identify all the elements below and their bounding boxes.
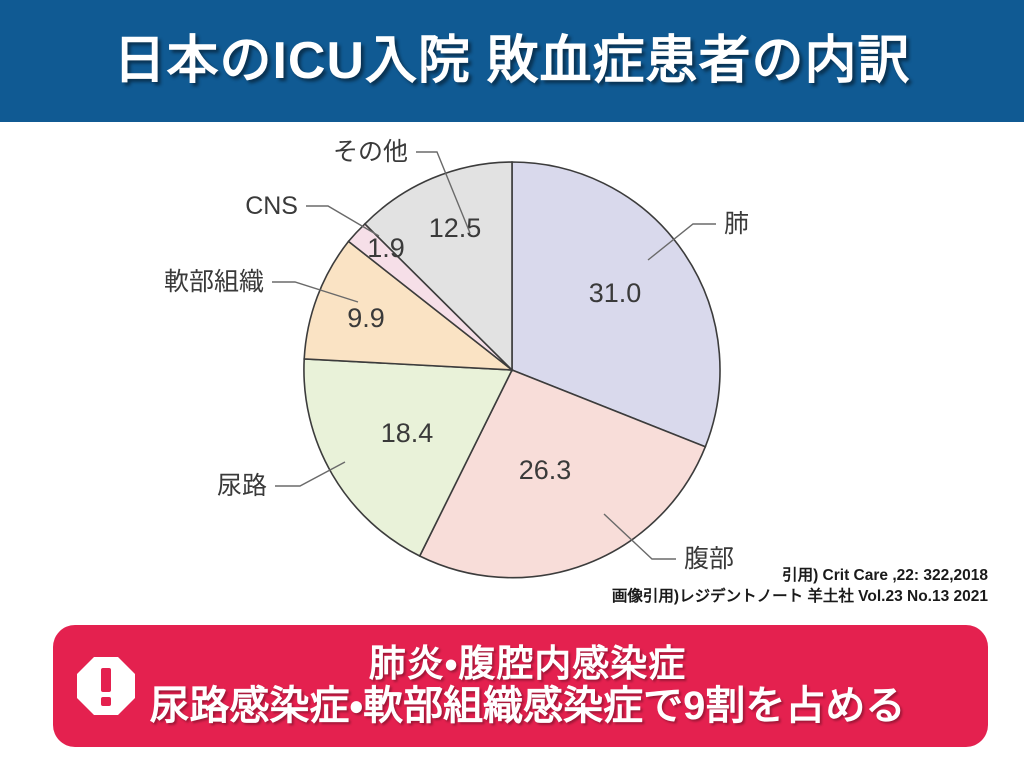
pie-value-other: 12.5 — [429, 213, 482, 243]
pie-slices — [304, 162, 720, 578]
callout-text: 肺炎・腹腔内感染症 尿路感染症・軟部組織感染症で9割を占める — [137, 643, 988, 729]
pie-label-urinary: 尿路 — [217, 472, 267, 500]
pie-value-urinary: 18.4 — [381, 418, 434, 448]
exclamation-octagon-glyph — [75, 655, 137, 717]
callout-line-1: 肺炎・腹腔内感染症 — [137, 643, 918, 684]
pie-chart-svg: 31.0 26.3 18.4 9.9 1.9 12.5 その他 CNS 軟部組織 — [0, 122, 1024, 612]
pie-value-lung: 31.0 — [589, 278, 642, 308]
pie-chart-figure: 31.0 26.3 18.4 9.9 1.9 12.5 その他 CNS 軟部組織 — [0, 122, 1024, 612]
pie-label-lung: 肺 — [724, 210, 749, 238]
callout-line-2: 尿路感染症・軟部組織感染症で9割を占める — [137, 684, 918, 729]
pie-label-other: その他 — [333, 138, 408, 166]
pie-value-abdomen: 26.3 — [519, 455, 572, 485]
page-title: 日本のICU入院 敗血症患者の内訳 — [113, 35, 910, 87]
citation-image-source: 画像引用)レジデントノート 羊土社 Vol.23 No.13 2021 — [612, 587, 988, 608]
pie-value-cns: 1.9 — [367, 233, 405, 263]
title-banner: 日本のICU入院 敗血症患者の内訳 — [0, 0, 1024, 122]
pie-label-cns: CNS — [245, 192, 298, 220]
citation-block: 引用) Crit Care ,22: 322,2018 画像引用)レジデントノー… — [612, 566, 988, 608]
exclamation-octagon-icon — [75, 655, 137, 717]
citation-source: 引用) Crit Care ,22: 322,2018 — [612, 566, 988, 587]
pie-label-soft-tissue: 軟部組織 — [164, 268, 264, 296]
pie-value-soft-tissue: 9.9 — [347, 303, 385, 333]
callout-banner: 肺炎・腹腔内感染症 尿路感染症・軟部組織感染症で9割を占める — [53, 625, 988, 747]
